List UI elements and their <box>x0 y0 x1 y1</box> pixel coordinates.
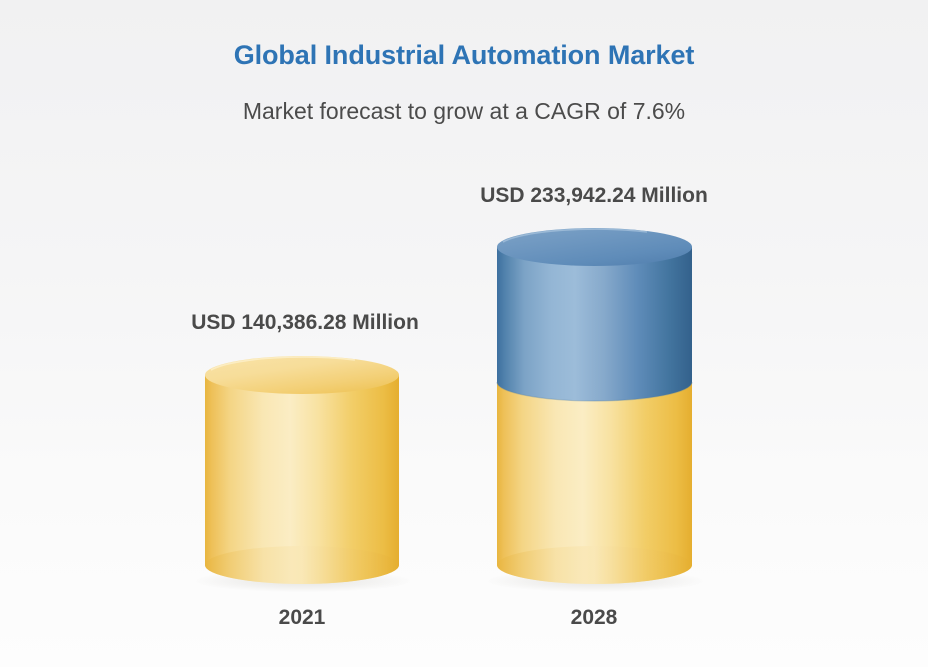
category-label-2021: 2021 <box>202 606 402 630</box>
bar-value-label-2021: USD 140,386.28 Million <box>152 311 458 335</box>
bar-cylinder-2021-graphic <box>205 356 399 584</box>
chart-title: Global Industrial Automation Market <box>0 40 928 71</box>
bar-cylinder-2028-graphic <box>497 228 692 584</box>
bar-value-label-2028: USD 233,942.24 Million <box>441 184 747 208</box>
bar-cylinder-2021[interactable] <box>205 356 399 584</box>
bar-cylinder-2028[interactable] <box>497 228 692 584</box>
category-label-2028: 2028 <box>494 606 694 630</box>
chart-subtitle: Market forecast to grow at a CAGR of 7.6… <box>0 98 928 125</box>
chart-canvas: Global Industrial Automation Market Mark… <box>0 0 928 667</box>
